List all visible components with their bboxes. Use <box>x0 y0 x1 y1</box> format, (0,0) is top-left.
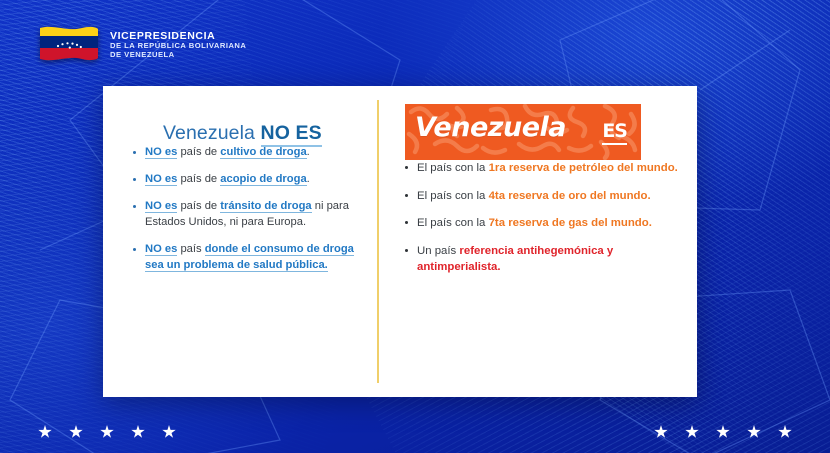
banner-suffix: ES <box>602 120 627 145</box>
list-item: Un país referencia antihegemónica y anti… <box>403 243 681 276</box>
list-item: NO es país de cultivo de droga. <box>131 145 359 161</box>
star-icon <box>654 425 668 439</box>
brand-lockup: VICEPRESIDENCIA DE LA REPÚBLICA BOLIVARI… <box>38 24 246 66</box>
bullet-text: NO es país de tránsito de droga ni para … <box>145 200 349 228</box>
brand-text: VICEPRESIDENCIA DE LA REPÚBLICA BOLIVARI… <box>110 31 246 60</box>
star-icon <box>747 425 761 439</box>
text-run: acopio de droga <box>220 173 306 186</box>
bullet-text: NO es país de cultivo de droga. <box>145 146 310 159</box>
text-run: 1ra reserva de petróleo del mundo. <box>489 162 678 174</box>
text-run: El país con la <box>417 190 489 202</box>
text-run: Un país <box>417 245 459 257</box>
star-icon <box>69 425 83 439</box>
bullet-text: Un país referencia antihegemónica y anti… <box>417 245 613 274</box>
text-run: NO es <box>145 200 177 213</box>
text-run: . <box>307 146 310 158</box>
bullet-text: El país con la 7ta reserva de gas del mu… <box>417 217 652 229</box>
list-item: El país con la 4ta reserva de oro del mu… <box>403 188 681 205</box>
text-run: país <box>177 243 204 255</box>
text-run: país de <box>177 146 220 158</box>
right-panel: Venezuela ES El país con la 1ra reserva … <box>377 86 697 397</box>
banner-word: Venezuela <box>415 112 566 143</box>
star-icon <box>38 425 52 439</box>
left-panel: Venezuela NO ES NO es país de cultivo de… <box>103 86 377 397</box>
list-item: NO es país de tránsito de droga ni para … <box>131 199 359 231</box>
text-run: 7ta reserva de gas del mundo. <box>489 217 652 229</box>
text-run: NO es <box>145 173 177 186</box>
text-run: país de <box>177 200 220 212</box>
text-run: NO es <box>145 243 177 256</box>
slide-canvas: VICEPRESIDENCIA DE LA REPÚBLICA BOLIVARI… <box>0 0 830 453</box>
list-item: El país con la 1ra reserva de petróleo d… <box>403 160 681 177</box>
bullet-text: El país con la 1ra reserva de petróleo d… <box>417 162 678 174</box>
star-icon <box>778 425 792 439</box>
star-icon <box>685 425 699 439</box>
left-panel-title: Venezuela NO ES <box>163 122 359 145</box>
content-card: Venezuela NO ES NO es país de cultivo de… <box>103 86 697 397</box>
right-bullet-list: El país con la 1ra reserva de petróleo d… <box>403 160 681 276</box>
venezuela-flag-icon <box>38 24 100 66</box>
star-icon <box>100 425 114 439</box>
list-item: El país con la 7ta reserva de gas del mu… <box>403 215 681 232</box>
venezuela-es-banner: Venezuela ES <box>405 104 641 160</box>
brand-line-3: DE VENEZUELA <box>110 51 246 60</box>
bullet-text: NO es país de acopio de droga. <box>145 173 310 186</box>
star-icon <box>131 425 145 439</box>
star-icon <box>716 425 730 439</box>
text-run: . <box>307 173 310 185</box>
bullet-text: El país con la 4ta reserva de oro del mu… <box>417 190 651 202</box>
left-bullet-list: NO es país de cultivo de droga. NO es pa… <box>131 145 359 273</box>
bullet-text: NO es país donde el consumo de droga sea… <box>145 243 354 272</box>
text-run: El país con la <box>417 217 489 229</box>
stars-left <box>38 425 176 439</box>
left-title-plain: Venezuela <box>163 122 261 144</box>
text-run: 4ta reserva de oro del mundo. <box>489 190 651 202</box>
stars-right <box>654 425 792 439</box>
left-title-bold: NO ES <box>261 122 322 147</box>
text-run: tránsito de droga <box>220 200 311 213</box>
text-run: NO es <box>145 146 177 159</box>
list-item: NO es país de acopio de droga. <box>131 172 359 188</box>
text-run: cultivo de droga <box>220 146 306 159</box>
list-item: NO es país donde el consumo de droga sea… <box>131 242 359 274</box>
text-run: país de <box>177 173 220 185</box>
star-icon <box>162 425 176 439</box>
text-run: El país con la <box>417 162 489 174</box>
